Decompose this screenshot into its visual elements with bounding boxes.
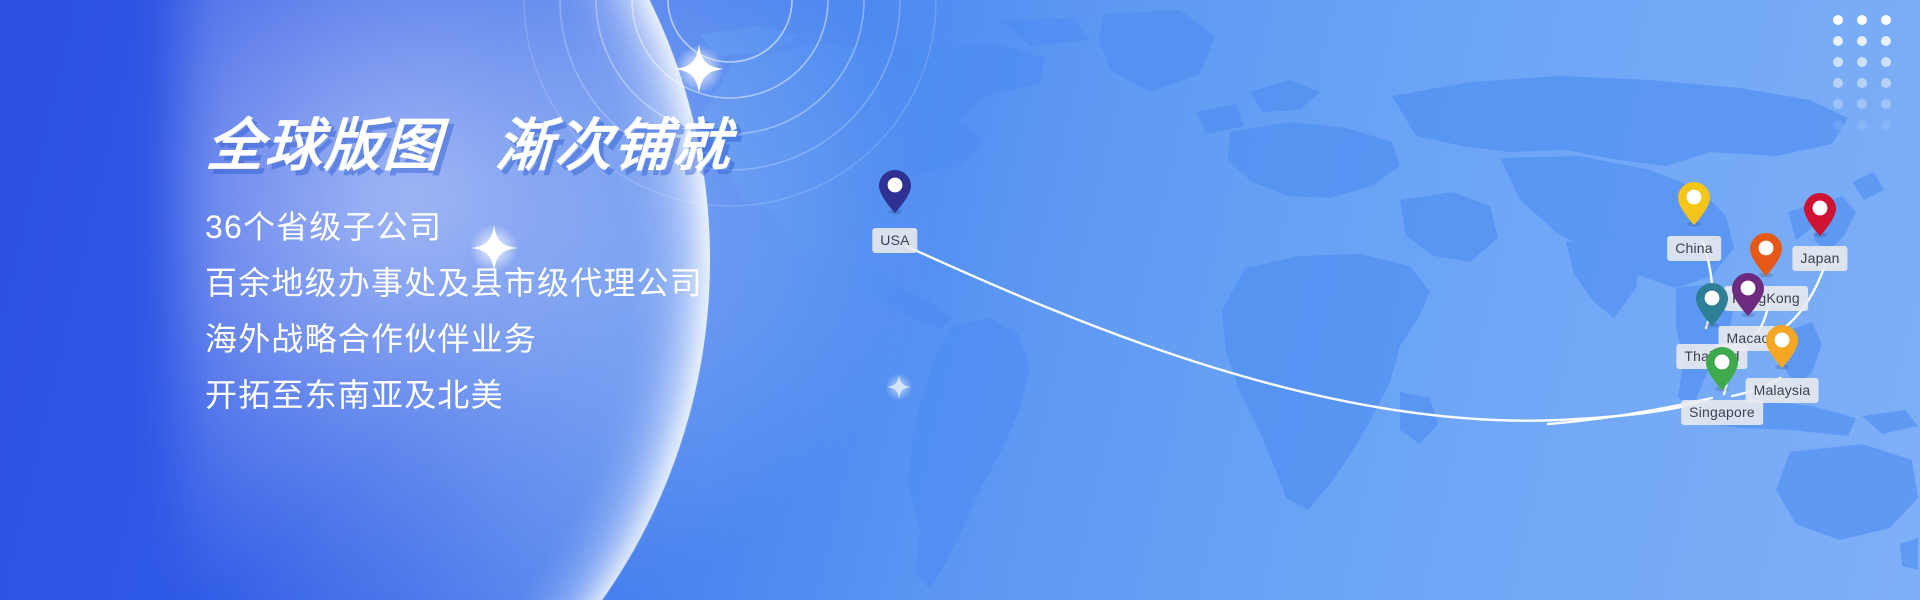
map-pin-label-china: China: [1667, 236, 1721, 261]
map-pin-malaysia[interactable]: [1765, 324, 1799, 370]
banner-subtitle-line-4: 开拓至东南亚及北美: [205, 367, 965, 423]
global-map-banner: USAChinaJapanHongKongMacaoThailandMalays…: [0, 0, 1920, 600]
banner-copy: 全球版图 渐次铺就 36个省级子公司 百余地级办事处及县市级代理公司 海外战略合…: [205, 118, 965, 423]
map-pin-japan[interactable]: [1803, 192, 1837, 238]
map-pin-singapore[interactable]: [1705, 346, 1739, 392]
banner-subtitle-line-1: 36个省级子公司: [205, 199, 965, 255]
map-pin-label-singapore: Singapore: [1681, 400, 1763, 425]
map-pin-macao[interactable]: [1731, 272, 1765, 318]
banner-headline: 全球版图 渐次铺就: [205, 118, 968, 175]
banner-subtitle-line-3: 海外战略合作伙伴业务: [205, 311, 965, 367]
map-pin-label-japan: Japan: [1792, 246, 1847, 271]
banner-subtitle-list: 36个省级子公司 百余地级办事处及县市级代理公司 海外战略合作伙伴业务 开拓至东…: [205, 175, 965, 423]
map-pin-thailand[interactable]: [1695, 282, 1729, 328]
banner-subtitle-line-2: 百余地级办事处及县市级代理公司: [205, 255, 965, 311]
map-pin-china[interactable]: [1677, 181, 1711, 227]
